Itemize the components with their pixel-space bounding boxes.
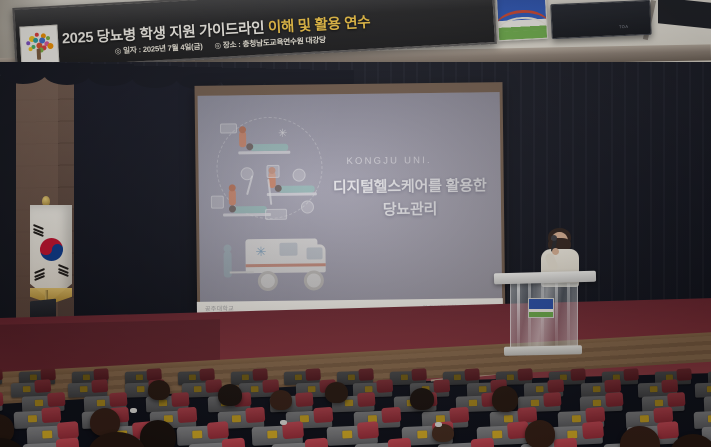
curtain-scallop-valance [0, 62, 330, 86]
audience-seating [0, 368, 711, 447]
seat-headrest [667, 392, 685, 407]
curtain-far-left [0, 76, 16, 331]
photo-scene: TOA 2025 당뇨병 학생 지원 가이드라인 이해 및 활용 연수 ◎ 일자… [0, 0, 711, 447]
seat-number-tag [251, 386, 259, 392]
auditorium-seat[interactable] [704, 395, 711, 412]
seat-headrest [605, 392, 623, 407]
seat-headrest [676, 368, 692, 381]
seat-number-tag [593, 400, 602, 407]
banner-sep-1: : [138, 45, 141, 54]
flag-finial [42, 196, 50, 206]
seat-headrest [177, 407, 197, 423]
podium-emblem [528, 298, 554, 318]
seat-number-tag [401, 374, 408, 380]
seat-number-tag [194, 386, 202, 392]
seat-number-tag [232, 415, 241, 422]
seat-number-tag [136, 374, 143, 380]
audience-member [432, 424, 454, 442]
seat-number-tag [536, 386, 544, 392]
seat-headrest [517, 368, 533, 381]
seat-number-tag [159, 400, 168, 407]
seat-headrest [570, 368, 586, 381]
seat-headrest [34, 379, 51, 393]
seat-headrest [357, 421, 379, 439]
seat-headrest [313, 407, 333, 423]
audience-member [492, 386, 518, 412]
seat-number-tag [504, 415, 513, 422]
seat-number-tag [454, 374, 461, 380]
seat-headrest [582, 421, 604, 439]
podium-base [504, 345, 582, 356]
hair-clip [435, 422, 442, 427]
seat-number-tag [42, 430, 52, 438]
seat-headrest [41, 407, 61, 423]
seat-headrest [376, 379, 393, 393]
seat-headrest [657, 421, 679, 439]
seat-headrest [471, 438, 495, 447]
seat-number-tag [593, 386, 601, 392]
seat-number-tag [267, 430, 277, 438]
podium [500, 272, 590, 360]
podium-lectern-top [494, 271, 596, 285]
colorful-tree-logo-icon [25, 31, 55, 62]
seat-number-tag [348, 374, 355, 380]
seat-headrest [547, 379, 564, 393]
hair-clip [280, 420, 287, 425]
audience-member [325, 382, 348, 403]
seat-number-tag [707, 386, 711, 392]
curtain-left-overlay [74, 75, 204, 332]
seat-headrest [56, 438, 80, 447]
seat-headrest [661, 379, 678, 393]
screen-vignette [198, 92, 503, 326]
seat-headrest [295, 392, 313, 407]
banner-venue-value: 충청남도교육연수원 대강당 [242, 35, 326, 48]
microphone-head [551, 235, 557, 241]
seat-headrest [91, 379, 108, 393]
banner-sep-2: : [238, 40, 241, 49]
seat-headrest [623, 368, 639, 381]
seat-headrest [171, 392, 189, 407]
seat-number-tag [35, 400, 44, 407]
seat-number-tag [192, 430, 202, 438]
banner-date-value: 2025년 7월 4일(금) [143, 42, 203, 54]
seat-headrest [464, 368, 480, 381]
seat-number-tag [572, 415, 581, 422]
seat-number-tag [242, 374, 249, 380]
seat-number-tag [640, 415, 649, 422]
seat-number-tag [479, 386, 487, 392]
seat-headrest [47, 392, 65, 407]
audience-member [140, 420, 176, 447]
seat-headrest [604, 379, 621, 393]
seat-headrest [449, 407, 469, 423]
presenter-hand [552, 248, 559, 255]
seat-headrest [411, 368, 427, 381]
seat-headrest [381, 407, 401, 423]
hair-clip [130, 408, 137, 413]
seat-number-tag [295, 374, 302, 380]
seat-number-tag [83, 374, 90, 380]
seat-number-tag [189, 374, 196, 380]
seat-headrest [543, 392, 561, 407]
banner-venue-label: 장소 [223, 40, 237, 50]
seat-number-tag [492, 430, 502, 438]
seat-number-tag [80, 386, 88, 392]
blue-green-poster [496, 0, 548, 41]
audience-member [525, 420, 555, 447]
seat-number-tag [342, 430, 352, 438]
auditorium-seat[interactable] [0, 395, 3, 412]
seat-number-tag [97, 400, 106, 407]
seat-headrest [305, 368, 321, 381]
banner-year: 2025 [62, 30, 94, 48]
speaker-brand-label: TOA [619, 24, 629, 29]
seat-headrest [357, 392, 375, 407]
banner-date-label: 일자 [123, 45, 137, 55]
taeguk-symbol-icon [40, 238, 63, 261]
seat-headrest [109, 392, 127, 407]
seat-number-tag [507, 374, 514, 380]
projection-screen: ✳ ✳ KONGJU UNI. 디지털헬스케어를 활용한 당뇨관리 [198, 92, 503, 326]
wall-speaker: TOA [550, 0, 651, 39]
seat-headrest [245, 407, 265, 423]
seat-number-tag [531, 400, 540, 407]
seat-headrest [305, 438, 329, 447]
seat-headrest [207, 421, 229, 439]
audience-member [410, 388, 434, 410]
seat-number-tag [655, 400, 664, 407]
seat-headrest [388, 438, 412, 447]
seat-number-tag [469, 400, 478, 407]
seat-headrest [222, 438, 246, 447]
seat-headrest [0, 368, 3, 381]
seat-number-tag [417, 430, 427, 438]
seat-headrest [433, 379, 450, 393]
seat-number-tag [345, 400, 354, 407]
seat-number-tag [23, 386, 31, 392]
banner-bullet-venue-icon: ◎ [214, 41, 221, 50]
seat-headrest [554, 438, 578, 447]
banner-title-highlight: 이해 및 활용 연수 [268, 15, 371, 37]
seat-headrest [57, 421, 79, 439]
banner-bullet-date-icon: ◎ [115, 46, 122, 55]
seat-number-tag [28, 415, 37, 422]
audience-member [270, 390, 292, 410]
audience-member [218, 384, 242, 406]
seat-number-tag [137, 386, 145, 392]
audience-member [148, 380, 170, 400]
seat-number-tag [650, 386, 658, 392]
seat-headrest [358, 368, 374, 381]
